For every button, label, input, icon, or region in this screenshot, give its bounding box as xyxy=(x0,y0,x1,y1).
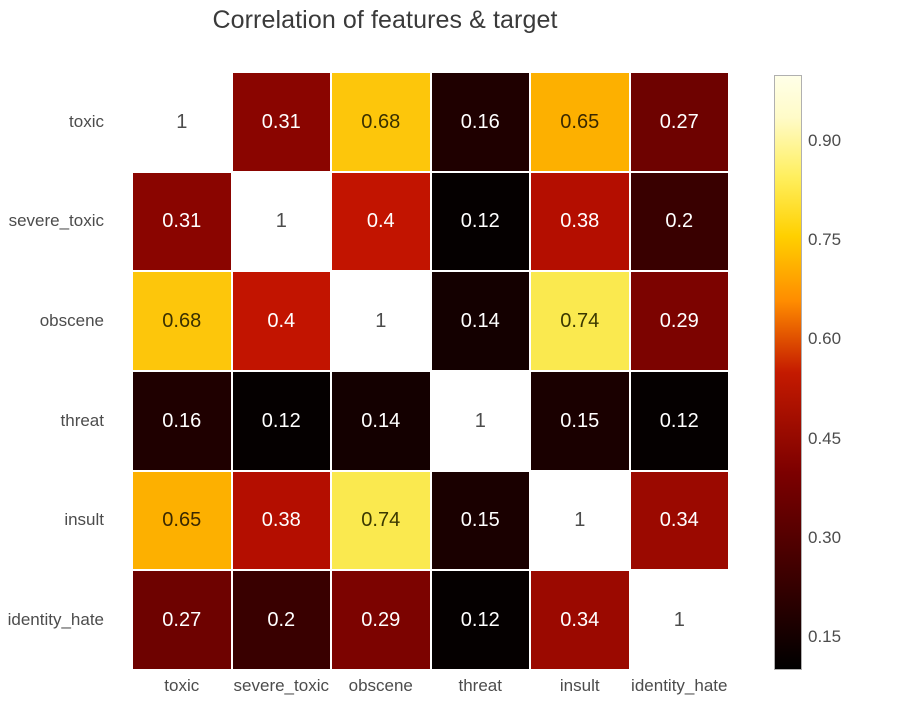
heatmap-cell-value: 0.2 xyxy=(267,610,295,630)
heatmap-cell-value: 0.34 xyxy=(660,510,699,530)
heatmap-cell: 0.31 xyxy=(132,172,232,272)
heatmap-cell-value: 0.29 xyxy=(660,311,699,331)
colorbar-tick-label: 0.75 xyxy=(808,230,841,250)
x-tick-label: severe_toxic xyxy=(232,676,332,710)
heatmap-cell-value: 0.12 xyxy=(461,610,500,630)
heatmap-cell-value: 0.12 xyxy=(461,211,500,231)
heatmap-cell-value: 0.27 xyxy=(162,610,201,630)
heatmap-cell: 0.14 xyxy=(331,371,431,471)
heatmap-cell: 1 xyxy=(630,570,730,670)
heatmap-cell: 1 xyxy=(132,72,232,172)
heatmap-cell-value: 0.38 xyxy=(262,510,301,530)
y-tick-label: threat xyxy=(0,371,118,471)
y-tick-label: insult xyxy=(0,471,118,571)
y-tick-label: identity_hate xyxy=(0,570,118,670)
heatmap-cell-value: 0.14 xyxy=(461,311,500,331)
heatmap-cell: 0.16 xyxy=(431,72,531,172)
heatmap-cell-value: 0.12 xyxy=(262,411,301,431)
heatmap-cell: 1 xyxy=(431,371,531,471)
heatmap-cell: 0.38 xyxy=(232,471,332,571)
heatmap-cell-value: 0.4 xyxy=(267,311,295,331)
heatmap-cell-value: 0.2 xyxy=(665,211,693,231)
x-axis: toxicsevere_toxicobscenethreatinsultiden… xyxy=(132,676,729,710)
heatmap-cell: 0.31 xyxy=(232,72,332,172)
heatmap-cell-value: 0.4 xyxy=(367,211,395,231)
y-tick-label: severe_toxic xyxy=(0,172,118,272)
heatmap-cell: 0.2 xyxy=(232,570,332,670)
heatmap-cell-value: 1 xyxy=(574,510,585,530)
heatmap-cell-value: 0.15 xyxy=(461,510,500,530)
heatmap-cell-value: 0.29 xyxy=(361,610,400,630)
heatmap-cell: 1 xyxy=(331,271,431,371)
heatmap-cell-value: 1 xyxy=(176,112,187,132)
x-tick-label: toxic xyxy=(132,676,232,710)
heatmap-cell-value: 0.68 xyxy=(162,311,201,331)
heatmap-cell: 0.15 xyxy=(431,471,531,571)
heatmap-cell: 0.74 xyxy=(530,271,630,371)
x-tick-label: threat xyxy=(431,676,531,710)
heatmap-cell-value: 0.16 xyxy=(461,112,500,132)
heatmap-cell: 0.14 xyxy=(431,271,531,371)
heatmap-cell: 1 xyxy=(530,471,630,571)
heatmap-cell: 0.12 xyxy=(431,172,531,272)
heatmap-cell-value: 1 xyxy=(375,311,386,331)
colorbar-tick-label: 0.90 xyxy=(808,131,841,151)
heatmap-cell-value: 1 xyxy=(276,211,287,231)
heatmap-cell: 0.34 xyxy=(530,570,630,670)
heatmap-cell: 0.29 xyxy=(630,271,730,371)
heatmap-cell: 0.15 xyxy=(530,371,630,471)
heatmap-cell-value: 1 xyxy=(475,411,486,431)
heatmap-cell: 0.34 xyxy=(630,471,730,571)
colorbar-tick-label: 0.30 xyxy=(808,528,841,548)
heatmap-cell: 0.12 xyxy=(630,371,730,471)
heatmap-cell: 0.74 xyxy=(331,471,431,571)
heatmap-cell-value: 0.68 xyxy=(361,112,400,132)
heatmap-cell-value: 0.31 xyxy=(262,112,301,132)
heatmap-cell: 0.68 xyxy=(132,271,232,371)
heatmap-cell: 1 xyxy=(232,172,332,272)
heatmap-cell: 0.65 xyxy=(530,72,630,172)
colorbar-tick-label: 0.45 xyxy=(808,429,841,449)
heatmap-cell-value: 0.74 xyxy=(361,510,400,530)
heatmap-figure: Correlation of features & target toxicse… xyxy=(0,0,902,728)
heatmap-cell-value: 0.15 xyxy=(560,411,599,431)
heatmap-cell-value: 0.38 xyxy=(560,211,599,231)
y-tick-label: toxic xyxy=(0,72,118,172)
heatmap-cell-value: 0.12 xyxy=(660,411,699,431)
colorbar-tick-label: 0.15 xyxy=(808,627,841,647)
heatmap-cell-value: 0.27 xyxy=(660,112,699,132)
colorbar-tick-label: 0.60 xyxy=(808,329,841,349)
heatmap-cell: 0.29 xyxy=(331,570,431,670)
heatmap-cell-value: 0.65 xyxy=(560,112,599,132)
heatmap-cell: 0.27 xyxy=(630,72,730,172)
page-title: Correlation of features & target xyxy=(0,6,770,35)
heatmap-cell: 0.38 xyxy=(530,172,630,272)
heatmap-cell: 0.27 xyxy=(132,570,232,670)
x-tick-label: insult xyxy=(530,676,630,710)
heatmap-cell-value: 0.16 xyxy=(162,411,201,431)
heatmap-cell: 0.12 xyxy=(232,371,332,471)
heatmap-cell: 0.65 xyxy=(132,471,232,571)
heatmap-cell: 0.4 xyxy=(232,271,332,371)
y-axis: toxicsevere_toxicobscenethreatinsultiden… xyxy=(0,72,118,670)
heatmap-cell-value: 0.31 xyxy=(162,211,201,231)
heatmap-grid: 10.310.680.160.650.270.3110.40.120.380.2… xyxy=(132,72,729,670)
heatmap-cell: 0.2 xyxy=(630,172,730,272)
x-tick-label: identity_hate xyxy=(630,676,730,710)
heatmap-cell: 0.12 xyxy=(431,570,531,670)
heatmap-cell-value: 0.65 xyxy=(162,510,201,530)
heatmap-cell: 0.68 xyxy=(331,72,431,172)
x-tick-label: obscene xyxy=(331,676,431,710)
heatmap-cell-value: 0.74 xyxy=(560,311,599,331)
heatmap-cell: 0.16 xyxy=(132,371,232,471)
heatmap-cell-value: 0.34 xyxy=(560,610,599,630)
heatmap-cell-value: 1 xyxy=(674,610,685,630)
y-tick-label: obscene xyxy=(0,271,118,371)
colorbar-ticks: 0.150.300.450.600.750.90 xyxy=(808,75,888,670)
colorbar-gradient xyxy=(774,75,802,670)
heatmap-cell-value: 0.14 xyxy=(361,411,400,431)
heatmap-cell: 0.4 xyxy=(331,172,431,272)
